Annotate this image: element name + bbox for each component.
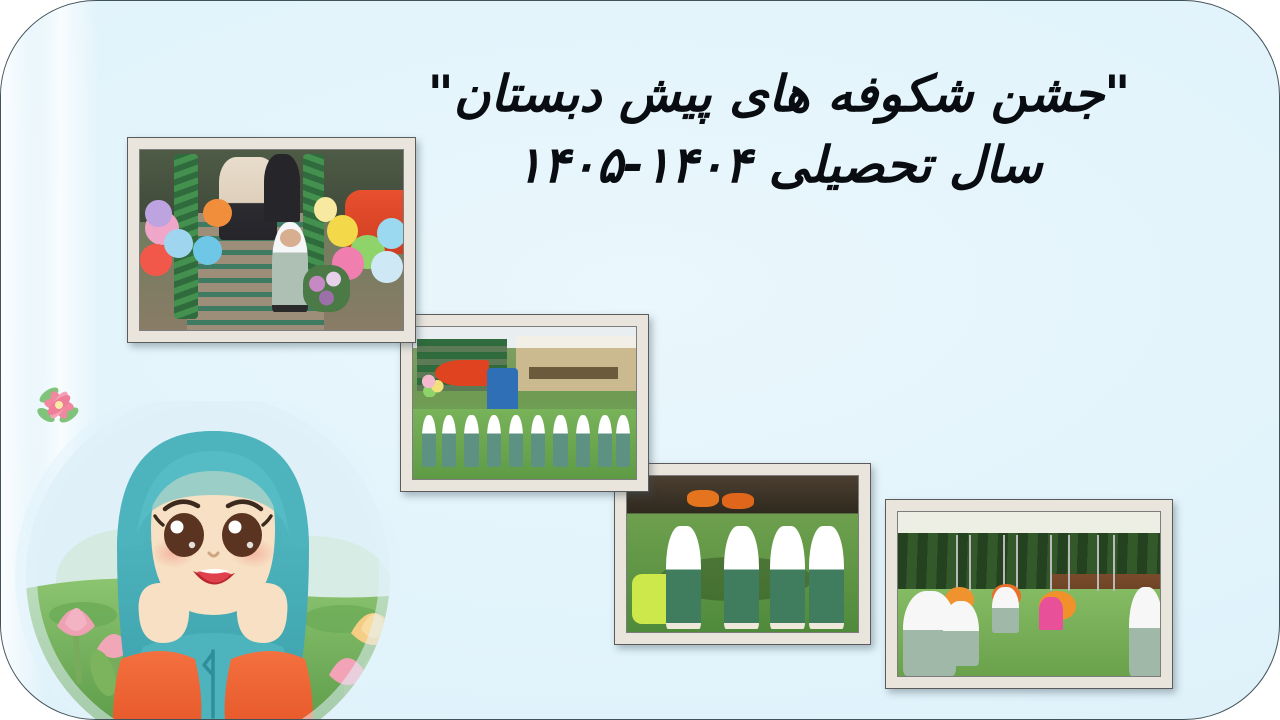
photo-frame-4[interactable] [885, 499, 1173, 689]
photo-1-image [139, 149, 404, 331]
photo-frame-3[interactable] [614, 463, 871, 645]
photo-3-image [626, 475, 859, 633]
presentation-slide: "جشن شکوفه های پیش دبستان" سال تحصیلی ۱۴… [0, 0, 1280, 720]
slide-title-block: "جشن شکوفه های پیش دبستان" سال تحصیلی ۱۴… [399, 61, 1159, 199]
photo-4-image [897, 511, 1161, 677]
page-title: "جشن شکوفه های پیش دبستان" [399, 61, 1159, 128]
photo-frame-1[interactable] [127, 137, 416, 343]
academic-year-subtitle: سال تحصیلی ۱۴۰۴-۱۴۰۵ [399, 132, 1159, 199]
cartoon-girl-illustration [13, 401, 453, 720]
